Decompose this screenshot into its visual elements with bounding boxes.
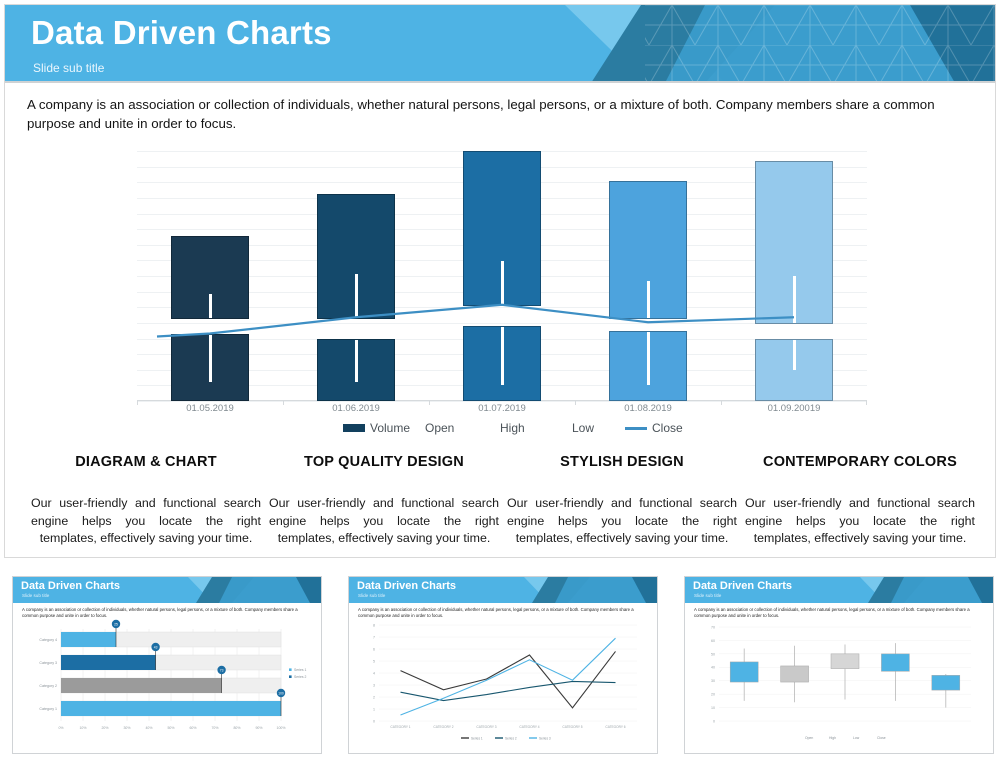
svg-text:100: 100 <box>278 691 284 695</box>
legend-label: Close <box>652 421 683 435</box>
legend-swatch-icon <box>343 424 365 432</box>
feature-heading: STYLISH DESIGN <box>507 453 737 471</box>
svg-text:CATEGORY 4: CATEGORY 4 <box>519 725 539 729</box>
svg-text:40: 40 <box>711 666 715 670</box>
thumbnail-chart: Category 425Category 343Category 273Cate… <box>13 617 321 753</box>
feature-body: Our user-friendly and functional search … <box>31 471 261 548</box>
svg-text:1: 1 <box>373 707 375 711</box>
svg-text:73: 73 <box>220 668 224 672</box>
thumbnail-chart: 010203040506070OpenHighLowClose <box>685 617 993 753</box>
thumbnail-title: Data Driven Charts <box>693 580 792 592</box>
header-divider <box>5 81 996 83</box>
svg-text:50: 50 <box>711 652 715 656</box>
svg-text:100%: 100% <box>277 726 286 730</box>
svg-text:3: 3 <box>373 683 375 687</box>
svg-text:Series 2: Series 2 <box>294 675 307 679</box>
svg-text:High: High <box>829 736 836 740</box>
page-subtitle: Slide sub title <box>33 61 104 75</box>
x-axis-tick-label: 01.06.2019 <box>332 403 380 414</box>
svg-text:60: 60 <box>711 639 715 643</box>
legend-item-open[interactable]: Open <box>425 421 454 435</box>
svg-text:8: 8 <box>373 623 375 627</box>
legend-line-icon <box>625 427 647 430</box>
svg-text:20%: 20% <box>101 726 108 730</box>
x-axis-tick-label: 01.09.20019 <box>768 403 821 414</box>
svg-text:CATEGORY 2: CATEGORY 2 <box>433 725 453 729</box>
intro-paragraph: A company is an association or collectio… <box>27 95 977 134</box>
thumbnail-chart-graphic: 012345678CATEGORY 1CATEGORY 2CATEGORY 3C… <box>349 617 658 753</box>
thumbnail-header: Data Driven ChartsSlide sub title <box>349 577 657 603</box>
thumbnail-header: Data Driven ChartsSlide sub title <box>685 577 993 603</box>
svg-text:Series 1: Series 1 <box>294 668 307 672</box>
close-line-series <box>137 151 867 401</box>
legend-item-low[interactable]: Low <box>572 421 594 435</box>
feature-body: Our user-friendly and functional search … <box>269 471 499 548</box>
page-title: Data Driven Charts <box>31 14 332 52</box>
svg-text:5: 5 <box>373 659 375 663</box>
thumbnail-header: Data Driven ChartsSlide sub title <box>13 577 321 603</box>
svg-text:0%: 0% <box>58 726 63 730</box>
svg-text:Open: Open <box>805 736 813 740</box>
feature-body: Our user-friendly and functional search … <box>507 471 737 548</box>
feature-heading: DIAGRAM & CHART <box>31 453 261 471</box>
chart-gridline <box>137 401 867 402</box>
feature-heading: CONTEMPORARY COLORS <box>745 453 975 471</box>
thumbnail-subtitle: Slide sub title <box>358 593 385 598</box>
svg-text:Low: Low <box>853 736 860 740</box>
svg-text:Category 4: Category 4 <box>39 638 57 642</box>
slide-header: Data Driven Charts Slide sub title <box>5 5 996 83</box>
svg-text:25: 25 <box>114 622 118 626</box>
main-slide: Data Driven Charts Slide sub title A com… <box>4 4 996 558</box>
thumbnail-strip: Data Driven ChartsSlide sub titleA compa… <box>0 576 1000 776</box>
thumbnail-title: Data Driven Charts <box>357 580 456 592</box>
feature-body: Our user-friendly and functional search … <box>745 471 975 548</box>
svg-text:CATEGORY 6: CATEGORY 6 <box>605 725 625 729</box>
svg-text:10: 10 <box>711 706 715 710</box>
legend-item-volume[interactable]: Volume <box>343 421 410 435</box>
svg-text:CATEGORY 1: CATEGORY 1 <box>390 725 410 729</box>
svg-text:Close: Close <box>877 736 886 740</box>
thumbnail-chart: 012345678CATEGORY 1CATEGORY 2CATEGORY 3C… <box>349 617 657 753</box>
chart-plot-area <box>137 151 867 401</box>
feature-column: DIAGRAM & CHARTOur user-friendly and fun… <box>31 453 261 548</box>
svg-text:90%: 90% <box>255 726 262 730</box>
svg-text:0: 0 <box>713 719 715 723</box>
legend-label: Low <box>572 421 594 435</box>
svg-text:Category 2: Category 2 <box>39 684 57 688</box>
chart-legend: VolumeOpenHighLowClose <box>137 421 867 441</box>
thumbnail-slide[interactable]: Data Driven ChartsSlide sub titleA compa… <box>12 576 322 754</box>
svg-text:70: 70 <box>711 625 715 629</box>
svg-text:70%: 70% <box>211 726 218 730</box>
feature-columns: DIAGRAM & CHARTOur user-friendly and fun… <box>25 453 977 553</box>
thumbnail-chart-graphic: Category 425Category 343Category 273Cate… <box>13 617 322 753</box>
legend-item-high[interactable]: High <box>500 421 525 435</box>
svg-text:Category 1: Category 1 <box>39 707 57 711</box>
chart-x-axis-labels: 01.05.201901.06.201901.07.201901.08.2019… <box>137 403 867 419</box>
svg-text:7: 7 <box>373 635 375 639</box>
svg-text:40%: 40% <box>145 726 152 730</box>
thumbnail-slide[interactable]: Data Driven ChartsSlide sub titleA compa… <box>348 576 658 754</box>
svg-text:Series 1: Series 1 <box>471 736 483 740</box>
legend-item-close[interactable]: Close <box>625 421 683 435</box>
svg-text:20: 20 <box>711 693 715 697</box>
feature-heading: TOP QUALITY DESIGN <box>269 453 499 471</box>
thumbnail-subtitle: Slide sub title <box>694 593 721 598</box>
legend-label: Volume <box>370 421 410 435</box>
legend-label: High <box>500 421 525 435</box>
svg-text:10%: 10% <box>79 726 86 730</box>
svg-text:Series 2: Series 2 <box>505 736 517 740</box>
thumbnail-title: Data Driven Charts <box>21 580 120 592</box>
feature-column: CONTEMPORARY COLORSOur user-friendly and… <box>745 453 975 548</box>
feature-column: TOP QUALITY DESIGNOur user-friendly and … <box>269 453 499 548</box>
x-axis-tick-label: 01.07.2019 <box>478 403 526 414</box>
stock-chart: 01.05.201901.06.201901.07.201901.08.2019… <box>137 151 867 401</box>
svg-text:43: 43 <box>154 645 158 649</box>
thumbnail-slide[interactable]: Data Driven ChartsSlide sub titleA compa… <box>684 576 994 754</box>
svg-text:4: 4 <box>373 671 375 675</box>
legend-label: Open <box>425 421 454 435</box>
x-axis-tick-label: 01.08.2019 <box>624 403 672 414</box>
svg-text:30%: 30% <box>123 726 130 730</box>
svg-text:CATEGORY 3: CATEGORY 3 <box>476 725 496 729</box>
svg-text:2: 2 <box>373 695 375 699</box>
svg-text:60%: 60% <box>189 726 196 730</box>
svg-text:50%: 50% <box>167 726 174 730</box>
feature-column: STYLISH DESIGNOur user-friendly and func… <box>507 453 737 548</box>
thumbnail-chart-graphic: 010203040506070OpenHighLowClose <box>685 617 994 753</box>
svg-text:Series 3: Series 3 <box>539 736 551 740</box>
svg-text:0: 0 <box>373 719 375 723</box>
svg-text:80%: 80% <box>233 726 240 730</box>
x-axis-tick-label: 01.05.2019 <box>186 403 234 414</box>
thumbnail-subtitle: Slide sub title <box>22 593 49 598</box>
svg-text:30: 30 <box>711 679 715 683</box>
svg-text:Category 3: Category 3 <box>39 661 57 665</box>
svg-text:6: 6 <box>373 647 375 651</box>
svg-text:CATEGORY 5: CATEGORY 5 <box>562 725 582 729</box>
